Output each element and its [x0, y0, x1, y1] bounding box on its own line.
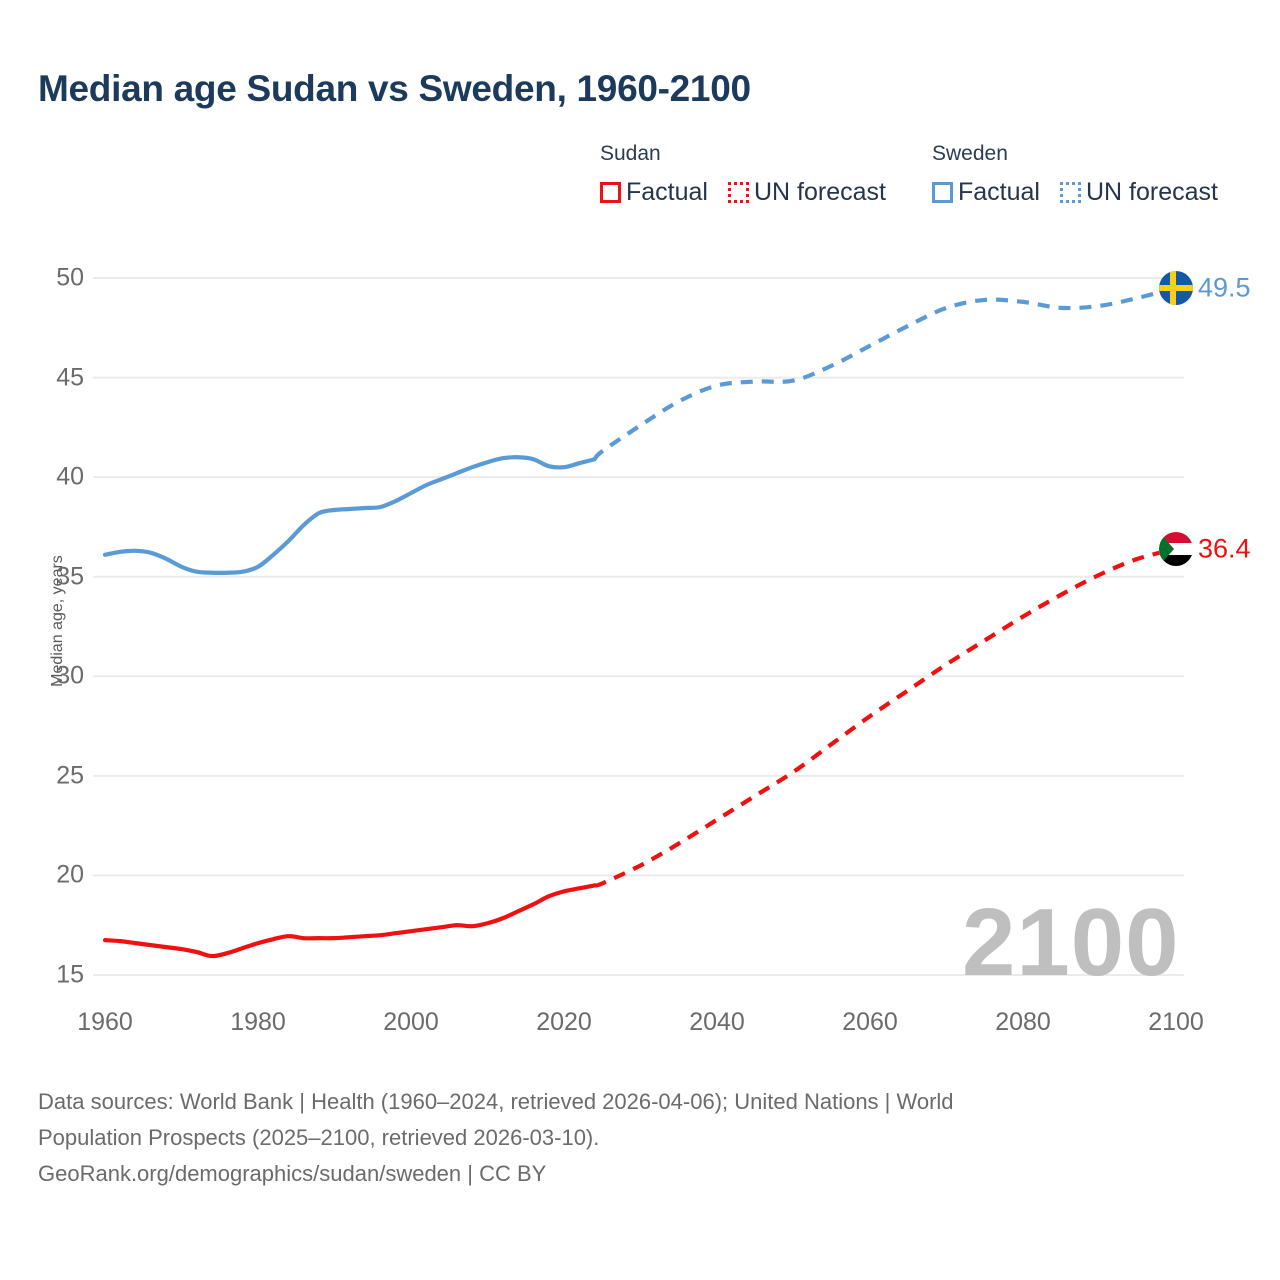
y-axis-title: Median age, years — [49, 521, 67, 721]
x-axis-tick-label: 2100 — [1148, 1008, 1204, 1037]
y-axis-tick-label: 20 — [18, 861, 84, 890]
x-axis-tick-label: 1980 — [230, 1008, 286, 1037]
footer-line-2: Population Prospects (2025–2100, retriev… — [38, 1121, 1168, 1154]
x-axis-tick-label: 1960 — [77, 1008, 133, 1037]
sudan-endpoint-value: 36.4 — [1198, 533, 1251, 564]
y-axis-tick-label: 35 — [18, 562, 84, 591]
chart-page: Median age Sudan vs Sweden, 1960-2100 Su… — [0, 0, 1280, 1280]
y-axis-tick-label: 45 — [18, 363, 84, 392]
sweden-endpoint-value: 49.5 — [1198, 272, 1251, 303]
x-axis-tick-label: 2060 — [842, 1008, 898, 1037]
series-line-factual-sweden — [105, 457, 595, 573]
x-axis-tick-label: 2040 — [689, 1008, 745, 1037]
footer-sources: Data sources: World Bank | Health (1960–… — [38, 1085, 1168, 1190]
sudan-flag-icon — [1159, 532, 1193, 566]
y-axis-tick-label: 15 — [18, 961, 84, 990]
series-line-forecast-sudan — [595, 549, 1176, 886]
y-axis-tick-label: 50 — [18, 264, 84, 293]
year-watermark: 2100 — [962, 895, 1180, 991]
y-axis-tick-label: 25 — [18, 761, 84, 790]
footer-line-3[interactable]: GeoRank.org/demographics/sudan/sweden | … — [38, 1157, 1168, 1190]
footer-line-1: Data sources: World Bank | Health (1960–… — [38, 1085, 1168, 1118]
x-axis-tick-label: 2020 — [536, 1008, 592, 1037]
series-line-forecast-sweden — [595, 288, 1176, 459]
y-axis-tick-label: 30 — [18, 662, 84, 691]
x-axis-tick-label: 2000 — [383, 1008, 439, 1037]
plot-area: Median age, years 1520253035404550196019… — [0, 0, 1280, 1060]
y-axis-tick-label: 40 — [18, 463, 84, 492]
series-line-factual-sudan — [105, 885, 595, 956]
sweden-flag-icon — [1159, 271, 1193, 305]
x-axis-tick-label: 2080 — [995, 1008, 1051, 1037]
